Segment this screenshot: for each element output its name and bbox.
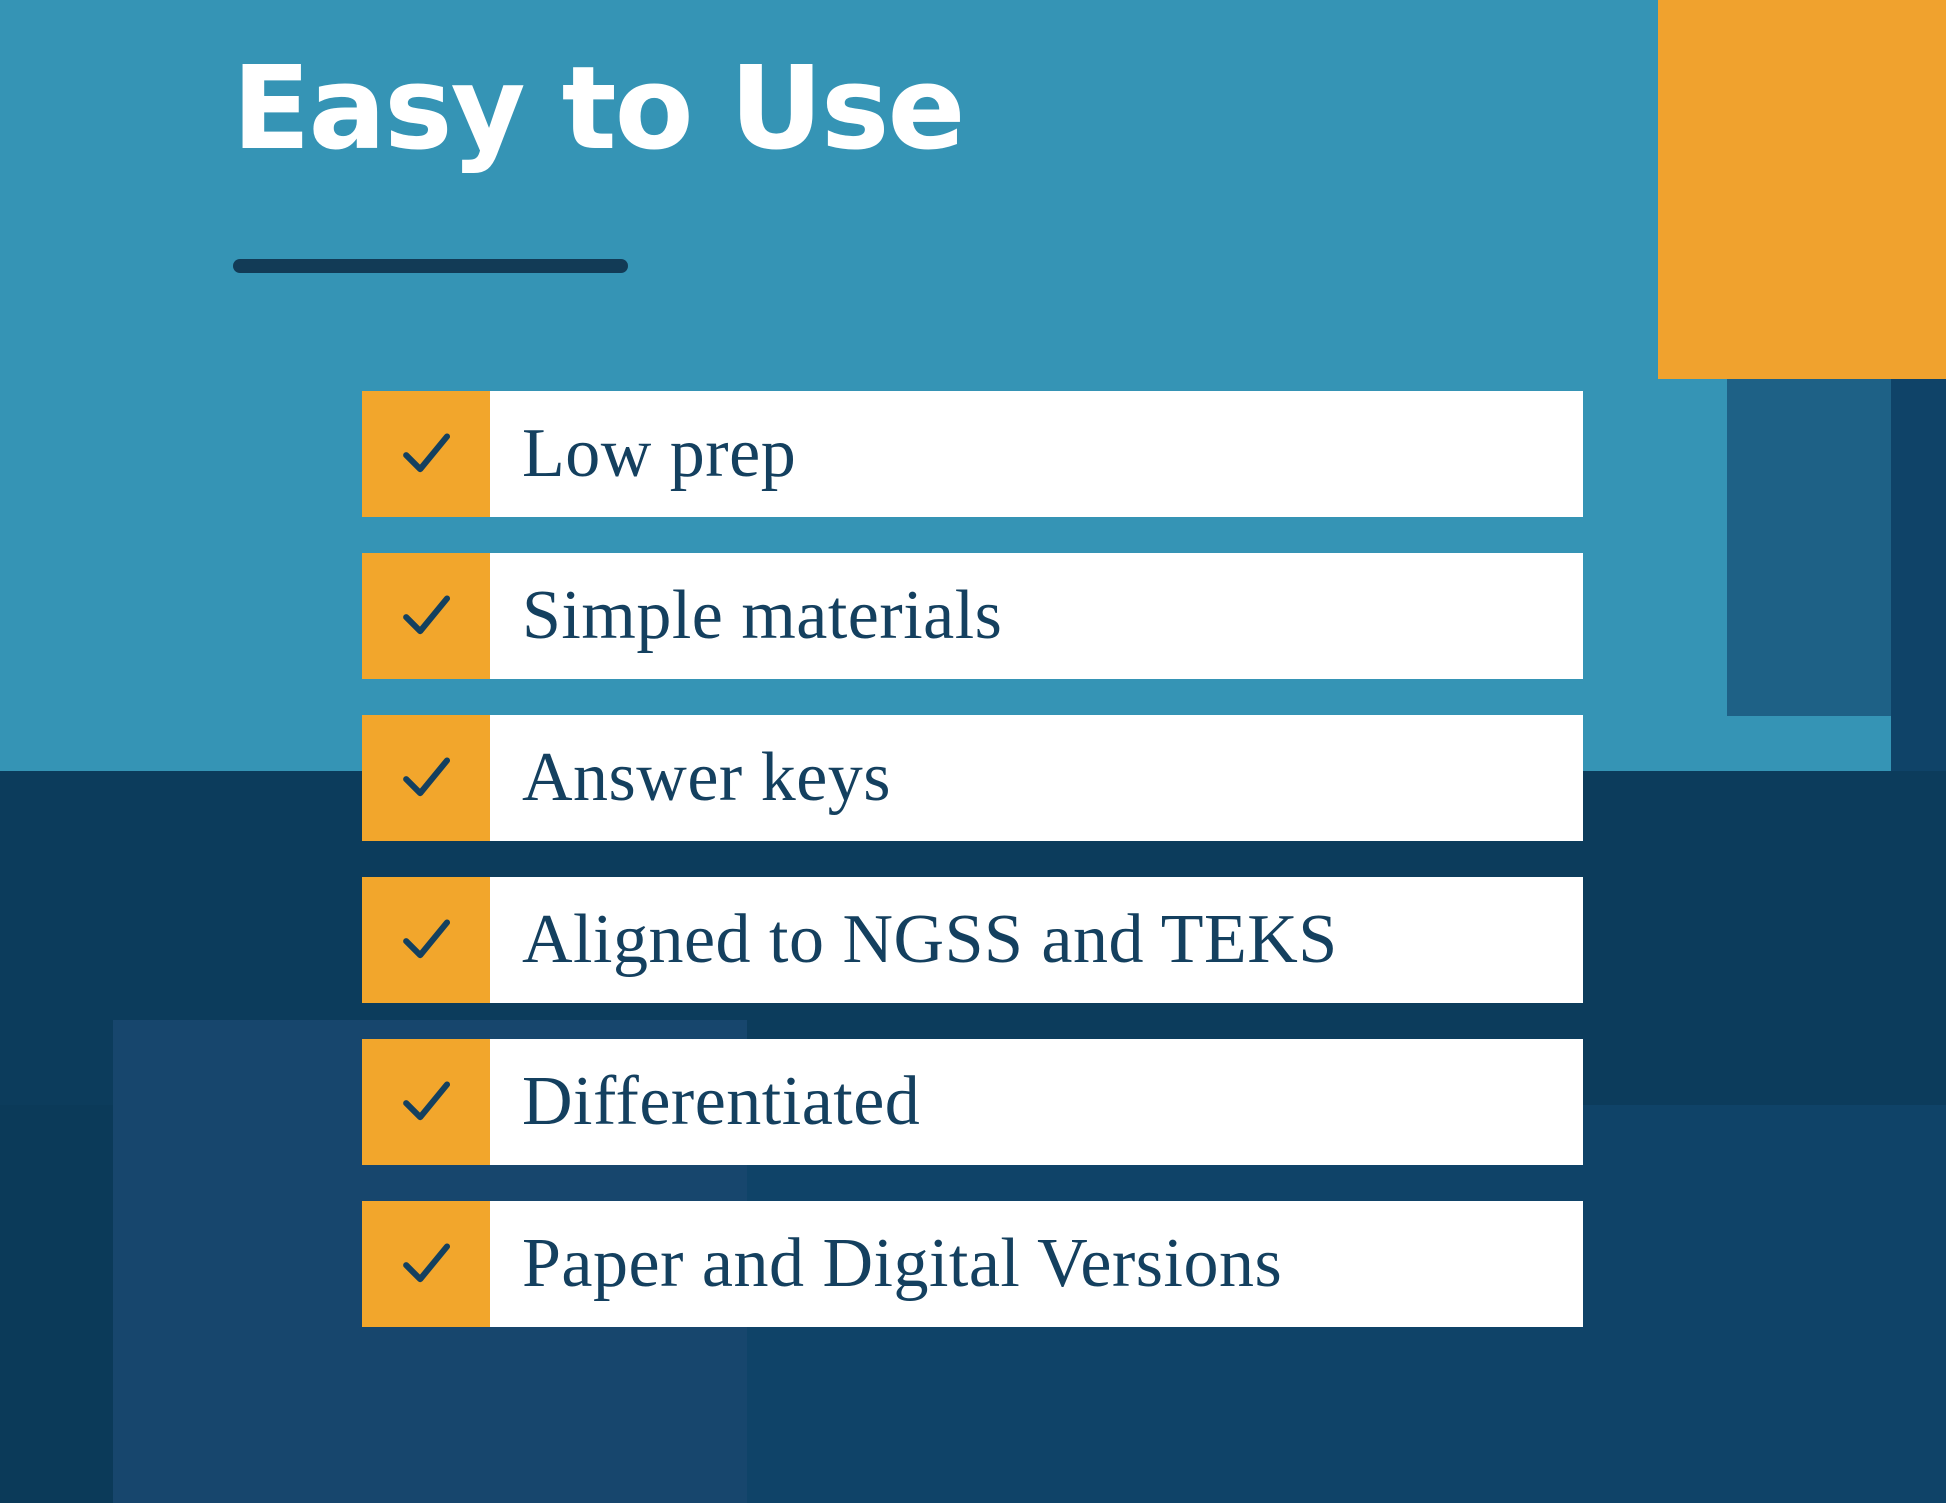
list-item-label: Paper and Digital Versions [490, 1201, 1583, 1327]
checkbox-cell[interactable] [362, 1201, 490, 1327]
checkmark-icon [398, 1236, 454, 1292]
checkmark-icon [398, 750, 454, 806]
list-item[interactable]: Paper and Digital Versions [362, 1201, 1583, 1327]
checkbox-cell[interactable] [362, 877, 490, 1003]
list-item-label: Answer keys [490, 715, 1583, 841]
list-item[interactable]: Answer keys [362, 715, 1583, 841]
checkmark-icon [398, 588, 454, 644]
background-block-orange-top-right [1658, 0, 1946, 379]
checkmark-icon [398, 426, 454, 482]
list-item[interactable]: Low prep [362, 391, 1583, 517]
slide-canvas: Easy to Use Low prep Simple materials [0, 0, 1946, 1503]
page-title: Easy to Use [232, 52, 1432, 167]
title-underline-rule [233, 259, 628, 273]
list-item[interactable]: Differentiated [362, 1039, 1583, 1165]
list-item[interactable]: Simple materials [362, 553, 1583, 679]
list-item-label: Low prep [490, 391, 1583, 517]
background-block-navy-right [1891, 379, 1946, 771]
checkmark-icon [398, 1074, 454, 1130]
checkbox-cell[interactable] [362, 715, 490, 841]
list-item-label: Simple materials [490, 553, 1583, 679]
background-block-mid-blue-right [1727, 379, 1891, 716]
list-item[interactable]: Aligned to NGSS and TEKS [362, 877, 1583, 1003]
checkbox-cell[interactable] [362, 391, 490, 517]
background-block-dark-bottom-left [0, 1105, 113, 1503]
feature-checklist: Low prep Simple materials Answer keys [362, 391, 1583, 1327]
checkmark-icon [398, 912, 454, 968]
checkbox-cell[interactable] [362, 553, 490, 679]
checkbox-cell[interactable] [362, 1039, 490, 1165]
list-item-label: Differentiated [490, 1039, 1583, 1165]
list-item-label: Aligned to NGSS and TEKS [490, 877, 1583, 1003]
